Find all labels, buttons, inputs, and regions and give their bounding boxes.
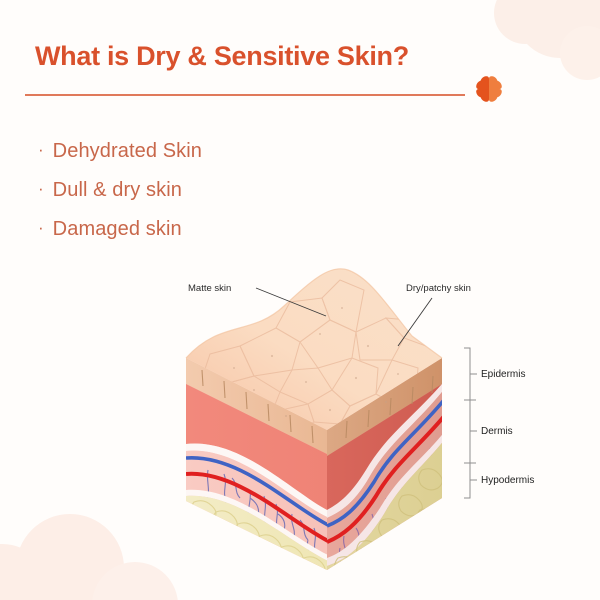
layer-bracket: [464, 348, 477, 498]
decorative-blob-top-right-small: [560, 26, 600, 80]
list-item-label: Dehydrated Skin: [53, 140, 202, 163]
layer-label-hypodermis: Hypodermis: [481, 475, 534, 486]
list-item: · Damaged skin: [38, 218, 368, 241]
list-item: · Dehydrated Skin: [38, 140, 368, 163]
infographic-canvas: What is Dry & Sensitive Skin? · Dehydrat…: [0, 0, 600, 600]
list-item-label: Damaged skin: [53, 218, 182, 241]
bullet-marker: ·: [38, 180, 44, 197]
callout-label-dry-patchy-skin: Dry/patchy skin: [406, 283, 471, 294]
title-divider: [25, 94, 465, 96]
layer-label-epidermis: Epidermis: [481, 369, 525, 380]
symptom-bullet-list: · Dehydrated Skin · Dull & dry skin · Da…: [38, 140, 368, 257]
callout-label-matte-skin: Matte skin: [188, 283, 231, 294]
list-item-label: Dull & dry skin: [53, 179, 182, 202]
layer-label-dermis: Dermis: [481, 426, 513, 437]
bullet-marker: ·: [38, 141, 44, 158]
four-petal-cross-icon: [474, 74, 504, 104]
page-title: What is Dry & Sensitive Skin?: [35, 41, 409, 72]
bullet-marker: ·: [38, 219, 44, 236]
skin-cross-section-illustration: Matte skin Dry/patchy skin Epidermis Der…: [180, 258, 600, 588]
list-item: · Dull & dry skin: [38, 179, 368, 202]
